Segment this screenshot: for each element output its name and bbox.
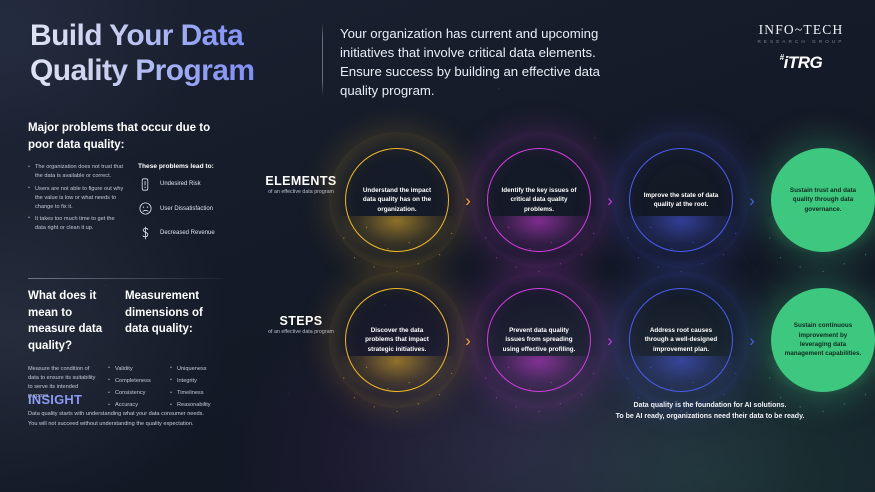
logo-wordmark: INFO~TECH [741,22,861,38]
insight-line-1: Data quality starts with understanding w… [28,410,258,420]
outcome-label: Undesired Risk [160,181,201,187]
elements-node-4[interactable]: Sustain trust and data quality through d… [771,148,875,252]
insight-block: INSIGHT Data quality starts with underst… [28,392,258,429]
outcome-item-decreased-revenue: Decreased Revenue [138,226,215,240]
header-subtitle: Your organization has current and upcomi… [340,24,630,101]
outcome-label: Decreased Revenue [160,230,215,236]
insight-title: INSIGHT [28,392,258,407]
infographic-canvas: Build Your Data Quality Program Your org… [0,0,875,492]
outcome-item-user-dissatisfaction: User Dissatisfaction [138,202,215,216]
list-item: It takes too much time to get the data r… [28,215,126,233]
list-item: Users are not able to figure out why the… [28,185,126,212]
node-text: Sustain trust and data quality through d… [771,186,875,214]
node-text: Discover the data problems that impact s… [345,326,449,354]
node-text: Sustain continuous improvement by levera… [771,321,875,358]
node-text: Understand the impact data quality has o… [345,186,449,214]
node-text: Address root causes through a well-desig… [629,326,733,354]
elements-node-1[interactable]: Understand the impact data quality has o… [345,148,449,252]
dollar-icon [138,226,152,240]
steps-node-3[interactable]: Address root causes through a well-desig… [629,288,733,392]
elements-node-3[interactable]: Improve the state of data quality at the… [629,148,733,252]
list-item: The organization does not trust that the… [28,163,126,181]
steps-node-1[interactable]: Discover the data problems that impact s… [345,288,449,392]
list-item: Integrity [170,377,222,386]
header-divider [322,22,323,96]
itrg-wordmark: iTRG [784,53,823,72]
outcome-item-undesired-risk: Undesired Risk [138,177,215,191]
steps-node-sequence: Discover the data problems that impact s… [345,280,875,400]
node-text: Identify the key issues of critical data… [487,186,591,214]
problems-bullet-list: The organization does not trust that the… [28,163,126,251]
steps-row: STEPS of an effective data program Disco… [250,280,875,400]
logo-tagline: RESEARCH GROUP [741,39,861,44]
list-item: Completeness [108,377,160,386]
header: Build Your Data Quality Program Your org… [0,0,875,110]
outcome-label: User Dissatisfaction [160,206,213,212]
node-text: Improve the state of data quality at the… [629,191,733,210]
alert-icon [138,177,152,191]
title-line-2: Quality Program [30,53,320,88]
insight-body: Data quality starts with understanding w… [28,410,258,429]
list-item: Uniqueness [170,365,222,374]
left-column-divider [28,278,223,279]
elements-node-2[interactable]: Identify the key issues of critical data… [487,148,591,252]
outcomes-block: These problems lead to: Undesired Risk [138,163,215,251]
dimensions-title: Measurement dimensions of data quality: [125,288,222,355]
measure-heading: What does it mean to measure data qualit… [0,288,250,355]
node-text: Prevent data quality issues from spreadi… [487,326,591,354]
steps-node-2[interactable]: Prevent data quality issues from spreadi… [487,288,591,392]
outcomes-title: These problems lead to: [138,163,215,170]
sad-face-icon [138,202,152,216]
left-column: Major problems that occur due to poor da… [0,120,250,251]
steps-node-4[interactable]: Sustain continuous improvement by levera… [771,288,875,392]
itrg-logo: #iTRG [741,53,861,73]
insight-line-2: You will not succeed without understandi… [28,420,258,430]
elements-node-sequence: Understand the impact data quality has o… [345,140,875,260]
elements-row: ELEMENTS of an effective data program Un… [250,140,875,260]
problems-heading: Major problems that occur due to poor da… [0,120,250,153]
measure-heading-text: What does it mean to measure data qualit… [28,288,113,355]
list-item: Validity [108,365,160,374]
page-title: Build Your Data Quality Program [30,18,320,88]
title-line-1: Build Your Data [30,18,320,53]
info-tech-logo: INFO~TECH RESEARCH GROUP #iTRG [741,22,861,73]
